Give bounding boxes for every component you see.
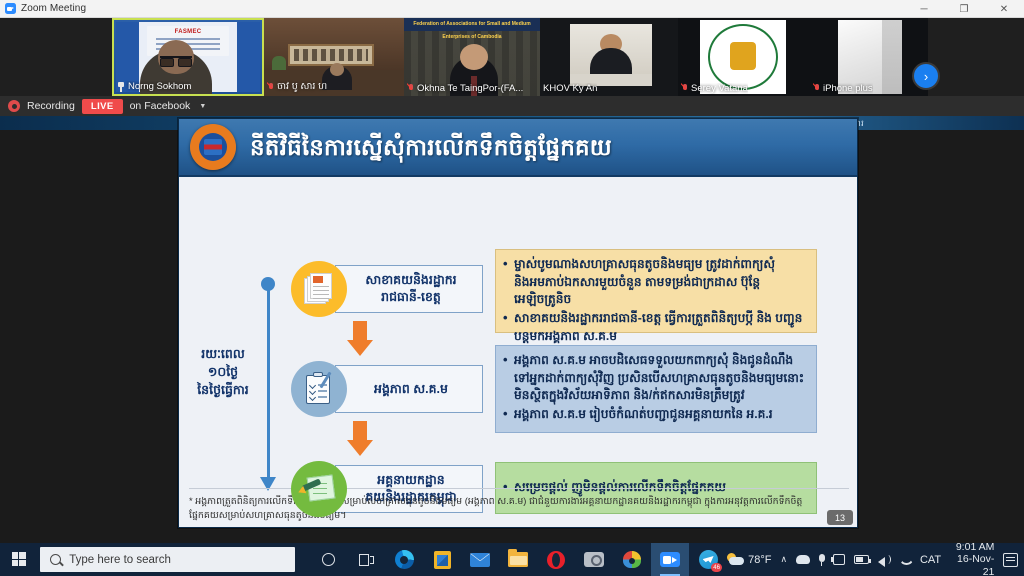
clipboard-line xyxy=(318,390,327,392)
windows-start-icon xyxy=(12,552,27,567)
content-bullet: សាខាគយនិងរដ្ឋាកររាជធានី-ខេត្ត ធ្វើការត្រ… xyxy=(503,310,808,345)
zoom-window-titlebar: Zoom Meeting ─ ❐ ✕ xyxy=(0,0,1024,18)
microphone-icon[interactable] xyxy=(819,554,824,566)
cortana-icon xyxy=(322,553,335,566)
tile-person-glasses xyxy=(160,56,192,63)
down-arrow-icon xyxy=(347,421,373,457)
flow-step-label: អង្គភាព ស.គ.ម xyxy=(347,381,475,398)
live-badge: LIVE xyxy=(82,99,123,114)
participant-name: Serey Vatana xyxy=(691,83,748,94)
muted-mic-icon xyxy=(813,84,820,94)
tile-banner-text: Federation of Associations for Small and… xyxy=(404,18,540,44)
show-hidden-icons-icon[interactable]: ∧ xyxy=(780,554,787,565)
recording-status-bar: Recording LIVE on Facebook ▼ xyxy=(0,96,1024,116)
content-box-blue: អង្គភាព ស.គ.ម អាចបដិសេធទទួលយកពាក្យសុំ និ… xyxy=(495,345,817,433)
wifi-icon[interactable] xyxy=(898,554,911,565)
signing-glyph xyxy=(302,474,336,504)
telegram-button[interactable]: 46 xyxy=(689,543,727,576)
window-title: Zoom Meeting xyxy=(21,3,86,14)
flow-step-label-line1: អង្គភាព ស.គ.ម xyxy=(374,382,448,396)
maximize-button[interactable]: ❐ xyxy=(944,0,984,18)
system-tray: 78°F ∧ CAT 9:01 AM 16-Nov-21 xyxy=(727,541,1024,576)
participant-name: KHOV Ky An xyxy=(543,83,597,94)
taskbar-icon-group: 46 xyxy=(309,543,727,576)
weather-widget[interactable]: 78°F xyxy=(727,553,771,567)
arrow-stem xyxy=(353,421,367,441)
clipboard-glyph xyxy=(304,372,334,406)
participant-name-label: iPhone plus xyxy=(813,83,873,94)
zoom-logo-icon xyxy=(5,3,16,14)
clock[interactable]: 9:01 AM 16-Nov-21 xyxy=(950,541,994,576)
footnote-text: * អង្គភាពត្រួតពិនិត្យការលើកទឹកចិត្តផ្នែក… xyxy=(189,494,849,523)
chevron-down-icon[interactable]: ▼ xyxy=(199,103,206,110)
pin-icon xyxy=(117,82,125,92)
cortana-button[interactable] xyxy=(309,543,347,576)
muted-mic-icon xyxy=(267,82,274,92)
arrow-tip xyxy=(347,340,373,356)
file-explorer-button[interactable] xyxy=(499,543,537,576)
next-participants-page-button[interactable]: › xyxy=(912,62,940,90)
tile-seal-emblem xyxy=(730,42,756,70)
paint-button[interactable] xyxy=(613,543,651,576)
paper-line xyxy=(313,493,327,494)
participant-tile[interactable]: FASMEC Norng Sokhom xyxy=(112,18,264,96)
zoom-app-icon xyxy=(660,552,680,567)
timeline-label-line3: នៃថ្ងៃធ្វើការ xyxy=(187,381,259,399)
content-bullet-list: ម្ចាស់បូមណាងសហគ្រាសធុនតូចនិងមធ្យម ត្រូវដ… xyxy=(503,256,808,345)
slide-title-bar: នីតិវិធីនៃការស្នើសុំការលើកទឹកចិត្តផ្នែកគ… xyxy=(179,119,858,177)
doc-line xyxy=(313,298,329,299)
timeline-duration-label: រយៈពេល ១០ថ្ងៃ នៃថ្ងៃធ្វើការ xyxy=(187,345,259,399)
minimize-button[interactable]: ─ xyxy=(904,0,944,18)
participant-tile[interactable]: KHOV Ky An xyxy=(540,18,678,96)
tile-wall-corner xyxy=(882,20,902,94)
cambodia-emblem-icon xyxy=(190,124,236,170)
participant-thumbnails: FASMEC Norng Sokhom xyxy=(112,18,928,96)
participant-name-label: KHOV Ky An xyxy=(543,83,597,94)
titlebar-left-group: Zoom Meeting xyxy=(0,3,86,14)
camera-icon xyxy=(584,552,604,567)
edge-browser-icon xyxy=(395,550,414,569)
flow-step-box: សាខាគយនិងរដ្ឋាករ រាជធានី-ខេត្ត xyxy=(335,265,483,313)
clock-date: 16-Nov-21 xyxy=(950,553,994,576)
flow-step-label-line2: រាជធានី-ខេត្ត xyxy=(381,290,441,304)
doc-line xyxy=(313,290,329,291)
paint-icon xyxy=(623,551,641,568)
slide-title: នីតិវិធីនៃការស្នើសុំការលើកទឹកចិត្តផ្នែកគ… xyxy=(250,133,612,162)
search-placeholder: Type here to search xyxy=(69,554,171,566)
content-bullet: ម្ចាស់បូមណាងសហគ្រាសធុនតូចនិងមធ្យម ត្រូវដ… xyxy=(503,256,808,309)
windows-taskbar: Type here to search 46 78°F ∧ xyxy=(0,543,1024,576)
participant-name: Norng Sokhom xyxy=(128,81,191,92)
temperature-label: 78°F xyxy=(748,554,771,566)
timeline-line xyxy=(267,285,270,481)
clock-time: 9:01 AM xyxy=(950,541,994,554)
flow-step-label-line1: សាខាគយនិងរដ្ឋាករ xyxy=(365,273,456,287)
zoom-taskbar-button[interactable] xyxy=(651,543,689,576)
flow-step: អង្គភាព ស.គ.ម xyxy=(291,365,483,413)
doc-line xyxy=(313,286,329,287)
timeline-label-line2: ១០ថ្ងៃ xyxy=(187,363,259,381)
participant-tile[interactable]: iPhone plus xyxy=(810,18,928,96)
slide-page-number: 13 xyxy=(827,510,853,525)
mail-icon xyxy=(470,553,490,567)
screen-root: Zoom Meeting ─ ❐ ✕ FASMEC xyxy=(0,0,1024,576)
onedrive-icon[interactable] xyxy=(796,555,810,564)
participant-tile[interactable]: ចាវ បូ សារ ហ xyxy=(264,18,404,96)
participant-tile[interactable]: Federation of Associations for Small and… xyxy=(404,18,540,96)
arrow-tip xyxy=(347,440,373,456)
mail-button[interactable] xyxy=(461,543,499,576)
task-view-icon xyxy=(359,554,374,566)
task-view-button[interactable] xyxy=(347,543,385,576)
opera-button[interactable] xyxy=(537,543,575,576)
participant-name-label: Okhna Te TaingPor-(FA... xyxy=(407,83,523,94)
doc-line xyxy=(313,294,329,295)
battery-icon[interactable] xyxy=(854,555,869,564)
presentation-slide: នីតិវិធីនៃការស្នើសុំការលើកទឹកចិត្តផ្នែកគ… xyxy=(178,118,858,528)
slide-body: រយៈពេល ១០ថ្ងៃ នៃថ្ងៃធ្វើការ សាខាគយនិងរដ្… xyxy=(179,177,858,528)
documents-stack-glyph xyxy=(304,273,334,305)
paper-line xyxy=(313,488,327,489)
tile-wall-art xyxy=(288,44,374,66)
tile-person-head xyxy=(460,44,488,70)
close-button[interactable]: ✕ xyxy=(984,0,1024,18)
slide-footnote: * អង្គភាពត្រួតពិនិត្យការលើកទឹកចិត្តផ្នែក… xyxy=(189,488,849,523)
clipboard-clip xyxy=(313,372,323,377)
flow-step-box: អង្គភាព ស.គ.ម xyxy=(335,365,483,413)
live-platform-label: on Facebook xyxy=(130,100,191,112)
store-button[interactable] xyxy=(423,543,461,576)
record-stop-icon[interactable] xyxy=(8,100,20,112)
banner-line xyxy=(156,38,219,40)
down-arrow-icon xyxy=(347,321,373,357)
clipboard-line xyxy=(318,396,327,398)
start-button[interactable] xyxy=(0,543,38,576)
content-bullet: អង្គភាព ស.គ.ម អាចបដិសេធទទួលយកពាក្យសុំ និ… xyxy=(503,352,808,405)
window-controls: ─ ❐ ✕ xyxy=(904,0,1024,18)
flow-step-label-line1: អគ្គនាយកដ្ឋាន xyxy=(377,473,444,487)
tile-person-head xyxy=(330,63,344,76)
participant-tile[interactable]: Serey Vatana xyxy=(678,18,810,96)
volume-icon[interactable] xyxy=(878,554,890,565)
doc-header-block xyxy=(313,276,323,283)
muted-mic-icon xyxy=(681,84,688,94)
display-icon[interactable] xyxy=(833,554,845,565)
participant-name-label: Norng Sokhom xyxy=(117,81,191,92)
camera-button[interactable] xyxy=(575,543,613,576)
file-explorer-icon xyxy=(508,552,528,567)
edge-button[interactable] xyxy=(385,543,423,576)
participant-name-label: ចាវ បូ សារ ហ xyxy=(267,80,327,94)
timeline-label-line1: រយៈពេល xyxy=(187,345,259,363)
content-bullet-list: អង្គភាព ស.គ.ម អាចបដិសេធទទួលយកពាក្យសុំ និ… xyxy=(503,352,808,424)
flow-step-label: សាខាគយនិងរដ្ឋាករ រាជធានី-ខេត្ត xyxy=(347,272,475,306)
tile-banner: Federation of Associations for Small and… xyxy=(404,18,540,31)
search-icon xyxy=(50,554,61,565)
arrow-stem xyxy=(353,321,367,341)
search-input[interactable]: Type here to search xyxy=(40,547,295,572)
clipboard-checklist-icon xyxy=(291,361,347,417)
participant-name: ចាវ បូ សារ ហ xyxy=(277,80,327,94)
participant-name: Okhna Te TaingPor-(FA... xyxy=(417,83,523,94)
opera-browser-icon xyxy=(547,551,565,569)
microsoft-store-icon xyxy=(434,551,451,569)
participant-name-label: Serey Vatana xyxy=(681,83,748,94)
content-box-orange: ម្ចាស់បូមណាងសហគ្រាសធុនតូចនិងមធ្យម ត្រូវដ… xyxy=(495,249,817,333)
recording-label: Recording xyxy=(27,100,75,112)
tile-banner-text: FASMEC xyxy=(147,29,230,35)
muted-mic-icon xyxy=(407,84,414,94)
flow-step: សាខាគយនិងរដ្ឋាករ រាជធានី-ខេត្ត xyxy=(291,265,483,313)
signing-document-icon xyxy=(291,461,347,517)
weather-icon xyxy=(727,553,744,567)
documents-stack-icon xyxy=(291,261,347,317)
chevron-right-icon: › xyxy=(924,69,928,84)
notification-center-icon[interactable] xyxy=(1003,553,1018,567)
telegram-badge: 46 xyxy=(711,563,722,572)
video-thumbnail-strip: FASMEC Norng Sokhom xyxy=(0,18,1024,96)
language-indicator[interactable]: CAT xyxy=(920,554,941,566)
participant-name: iPhone plus xyxy=(823,83,873,94)
content-bullet: អង្គភាព ស.គ.ម រៀបចំកំណត់បញ្ជាជូនអគ្គនាយក… xyxy=(503,406,808,424)
